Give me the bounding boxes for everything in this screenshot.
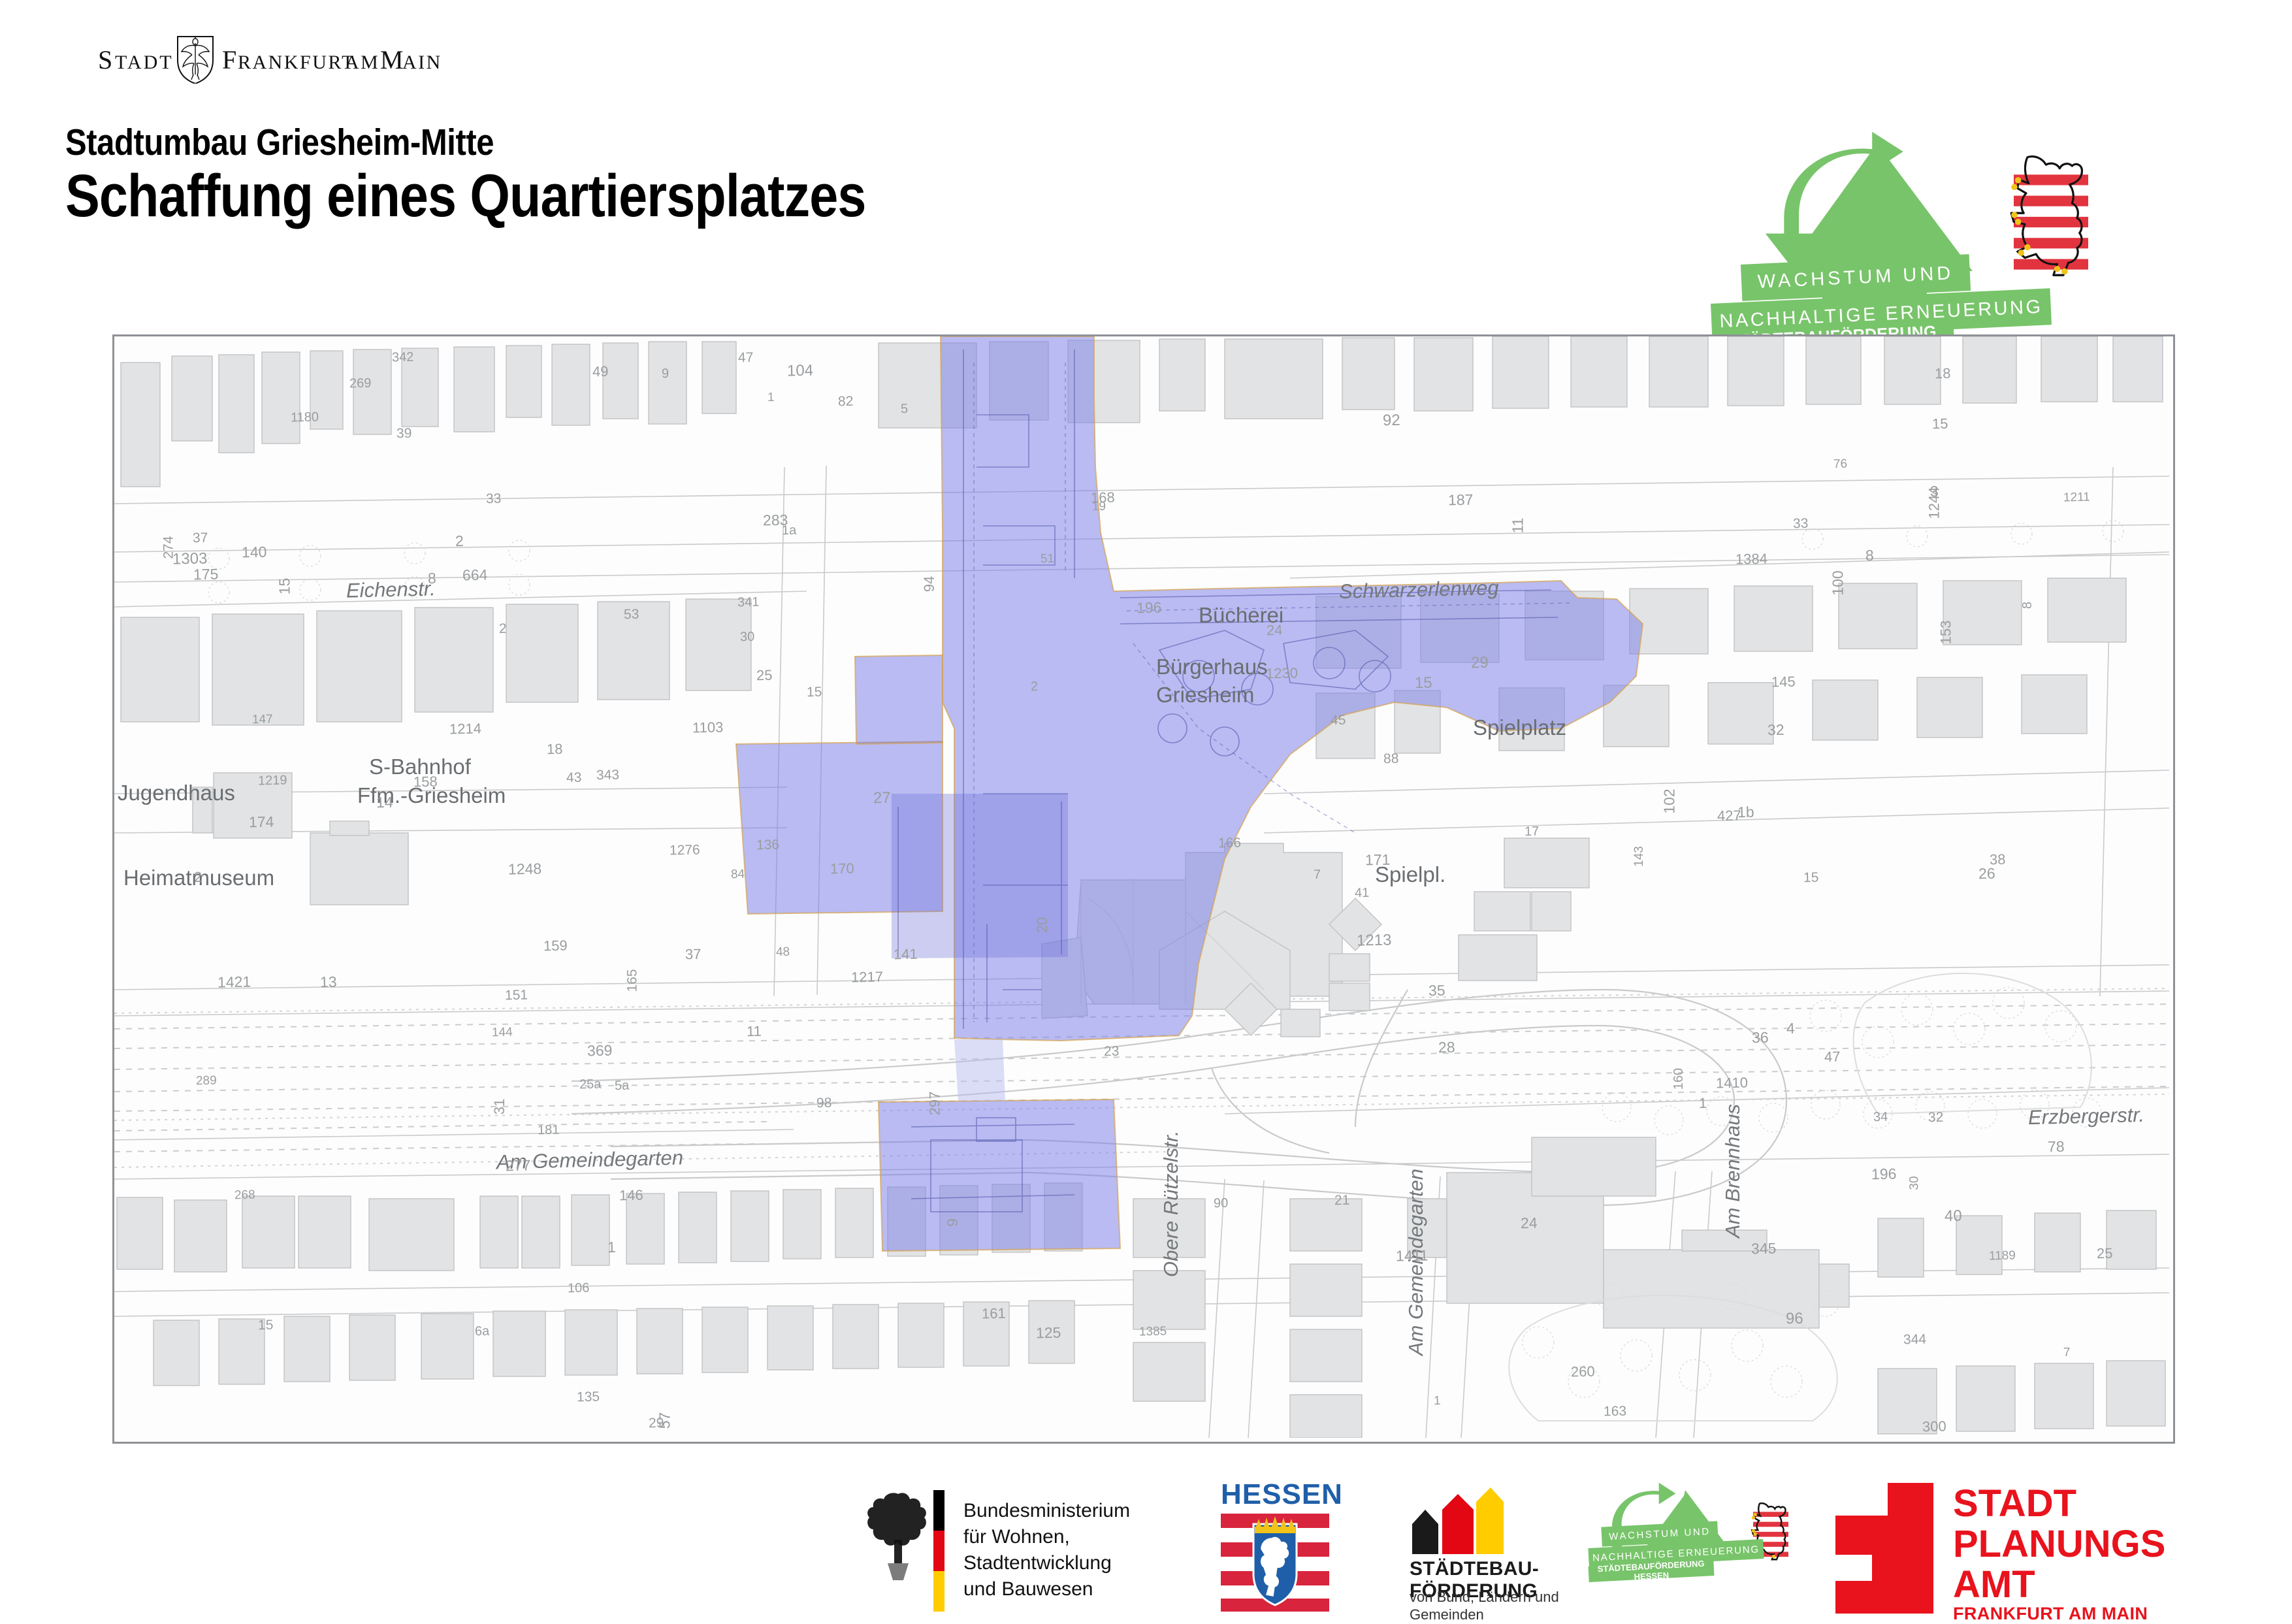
cadastral-map[interactable]: Eichenstr. Schwarzerlenweg Am Gemeindega… (112, 334, 2175, 1444)
footer-logo-bundesministerium: Bundesministerium für Wohnen, Stadtentwi… (865, 1473, 1205, 1620)
bmwsb-line-1: Bundesministerium (963, 1498, 1205, 1524)
footer-logo-wachstum: WACHSTUM UND NACHHALTIGE ERNEUERUNG STÄD… (1587, 1473, 1796, 1620)
svg-text:S: S (98, 45, 114, 74)
german-flag-bar (933, 1490, 944, 1612)
sfb-line-1: STÄDTEBAU- (1410, 1558, 1539, 1580)
sfb-sub-1: von Bund, Ländern und (1410, 1588, 1559, 1606)
hessen-wordmark: HESSEN (1221, 1478, 1343, 1511)
map-canvas (114, 336, 2173, 1442)
svg-text:AM: AM (345, 52, 379, 73)
page-header: S TADT F RANKFURT (0, 0, 2292, 327)
city-logo: S TADT F RANKFURT (98, 33, 516, 82)
footer-logo-staedtebaufoerderung: STÄDTEBAU- FÖRDERUNG von Bund, Ländern u… (1404, 1473, 1587, 1620)
footer-logo-stadtplanungsamt: STADT PLANUNGS AMT FRANKFURT AM MAIN (1829, 1473, 2155, 1620)
three-houses-icon (1410, 1486, 1504, 1555)
svg-text:AIN: AIN (402, 52, 442, 73)
spa-line-3: AMT (1953, 1565, 2165, 1605)
hessen-shield-icon (1221, 1514, 1329, 1612)
stadtplanungsamt-block-icon (1834, 1483, 1935, 1617)
spa-line-2: PLANUNGS (1953, 1524, 2165, 1565)
footer-logo-hessen: HESSEN (1218, 1473, 1342, 1620)
federal-eagle-icon (867, 1493, 926, 1580)
hessen-band-1-label: WACHSTUM UND (1741, 262, 1970, 294)
bmwsb-line-2: für Wohnen, Stadtentwicklung (963, 1524, 1205, 1576)
svg-text:RANKFURT: RANKFURT (238, 52, 355, 73)
sfb-sub-2: Gemeinden (1410, 1606, 1559, 1623)
svg-text:M: M (380, 45, 404, 74)
bmwsb-line-3: und Bauwesen (963, 1576, 1205, 1602)
hessen-lion-icon (2011, 157, 2088, 276)
spa-line-1: STADT (1953, 1484, 2165, 1524)
footer-logo-bar: Bundesministerium für Wohnen, Stadtentwi… (0, 1473, 2292, 1620)
svg-text:TADT: TADT (115, 52, 174, 73)
spa-subline: FRANKFURT AM MAIN (1953, 1604, 2148, 1624)
page-title: Schaffung eines Quartiersplatzes (65, 162, 866, 231)
svg-text:F: F (222, 45, 236, 74)
page-kicker: Stadtumbau Griesheim-Mitte (65, 121, 494, 164)
footer-wachstum-band-1-label: WACHSTUM UND (1602, 1525, 1719, 1542)
